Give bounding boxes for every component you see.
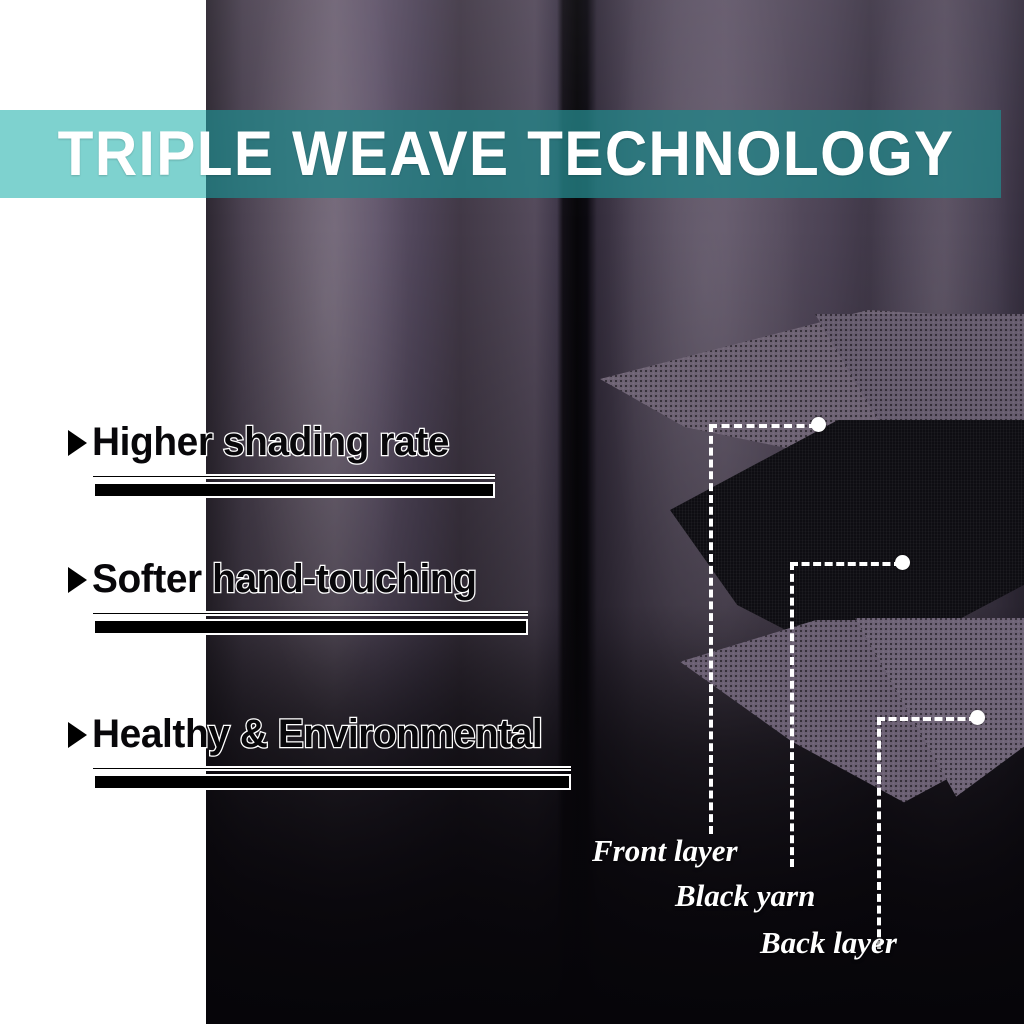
front-layer-callout-line-h bbox=[709, 424, 817, 428]
page-title: TRIPLE WEAVE TECHNOLOGY bbox=[0, 110, 931, 198]
triangle-right-icon bbox=[68, 567, 87, 593]
infographic-canvas: Front layer Black yarn Back layer TRIPLE… bbox=[0, 0, 1024, 1024]
triangle-right-icon bbox=[68, 722, 87, 748]
feature-label: Softer hand-touching bbox=[92, 557, 477, 602]
feature-label: Higher shading rate bbox=[92, 420, 449, 465]
underline-thin bbox=[93, 474, 495, 479]
underline-thick bbox=[93, 774, 571, 790]
feature-item-2: Softer hand-touching bbox=[68, 557, 528, 635]
underline-thick bbox=[93, 619, 528, 635]
feature-underline bbox=[93, 474, 495, 498]
triangle-right-icon bbox=[68, 430, 87, 456]
feature-label: Healthy & Environmental bbox=[92, 712, 542, 757]
feature-item-3: Healthy & Environmental bbox=[68, 712, 571, 790]
feature-item-1: Higher shading rate bbox=[68, 420, 495, 498]
underline-thin bbox=[93, 766, 571, 771]
feature-underline bbox=[93, 766, 571, 790]
feature-underline bbox=[93, 611, 528, 635]
layer-label-black-yarn: Black yarn bbox=[675, 878, 815, 914]
triple-weave-layer-diagram bbox=[565, 300, 1024, 820]
back-layer-callout-line-v bbox=[877, 717, 881, 949]
underline-thin bbox=[93, 611, 528, 616]
black-yarn-callout-line-h bbox=[790, 562, 902, 566]
black-yarn-callout-line-v bbox=[790, 562, 794, 867]
front-layer-callout-line-v bbox=[709, 424, 713, 834]
underline-thick bbox=[93, 482, 495, 498]
back-layer-callout-line-h bbox=[877, 717, 977, 721]
layer-label-back: Back layer bbox=[760, 925, 897, 961]
layer-label-front: Front layer bbox=[592, 833, 738, 869]
